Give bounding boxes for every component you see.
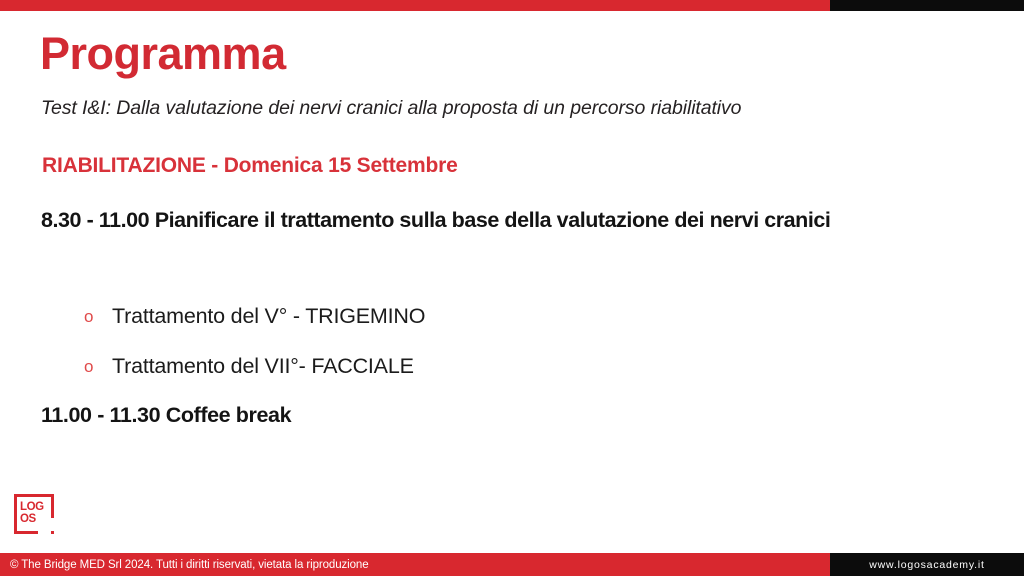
session-title: 8.30 - 11.00 Pianificare il trattamento … (41, 207, 986, 235)
footer-bar: © The Bridge MED Srl 2024. Tutti i dirit… (0, 553, 1024, 576)
bullet-circle-icon: o (84, 308, 112, 325)
logo-wordmark-line1: LOG (20, 501, 48, 513)
logo-notch-vertical (51, 518, 54, 531)
logo-wordmark-line2: OS (20, 513, 48, 525)
top-accent-black-segment (830, 0, 1024, 11)
section-heading: RIABILITAZIONE - Domenica 15 Settembre (42, 154, 458, 178)
list-item-label: Trattamento del V° - TRIGEMINO (112, 304, 425, 329)
list-item: o Trattamento del VII°- FACCIALE (0, 341, 1024, 391)
list-item: o Trattamento del V° - TRIGEMINO (0, 291, 1024, 341)
coffee-break-line: 11.00 - 11.30 Coffee break (41, 403, 291, 428)
logos-logo: LOG OS (14, 494, 58, 538)
footer-copyright-section: © The Bridge MED Srl 2024. Tutti i dirit… (0, 553, 830, 576)
bullet-circle-icon: o (84, 358, 112, 375)
footer-website-text: www.logosacademy.it (869, 559, 984, 571)
session-bullet-list: o Trattamento del V° - TRIGEMINO o Tratt… (0, 291, 1024, 391)
logo-notch-horizontal (38, 531, 51, 534)
logo-wordmark: LOG OS (20, 501, 48, 525)
top-accent-red-segment (0, 0, 830, 11)
slide-content: Programma Test I&I: Dalla valutazione de… (0, 11, 1024, 553)
footer-copyright-text: © The Bridge MED Srl 2024. Tutti i dirit… (0, 559, 369, 571)
page-title: Programma (40, 31, 286, 76)
page-subtitle: Test I&I: Dalla valutazione dei nervi cr… (41, 97, 741, 120)
list-item-label: Trattamento del VII°- FACCIALE (112, 354, 414, 379)
top-accent-bar (0, 0, 1024, 11)
footer-website-section: www.logosacademy.it (830, 553, 1024, 576)
